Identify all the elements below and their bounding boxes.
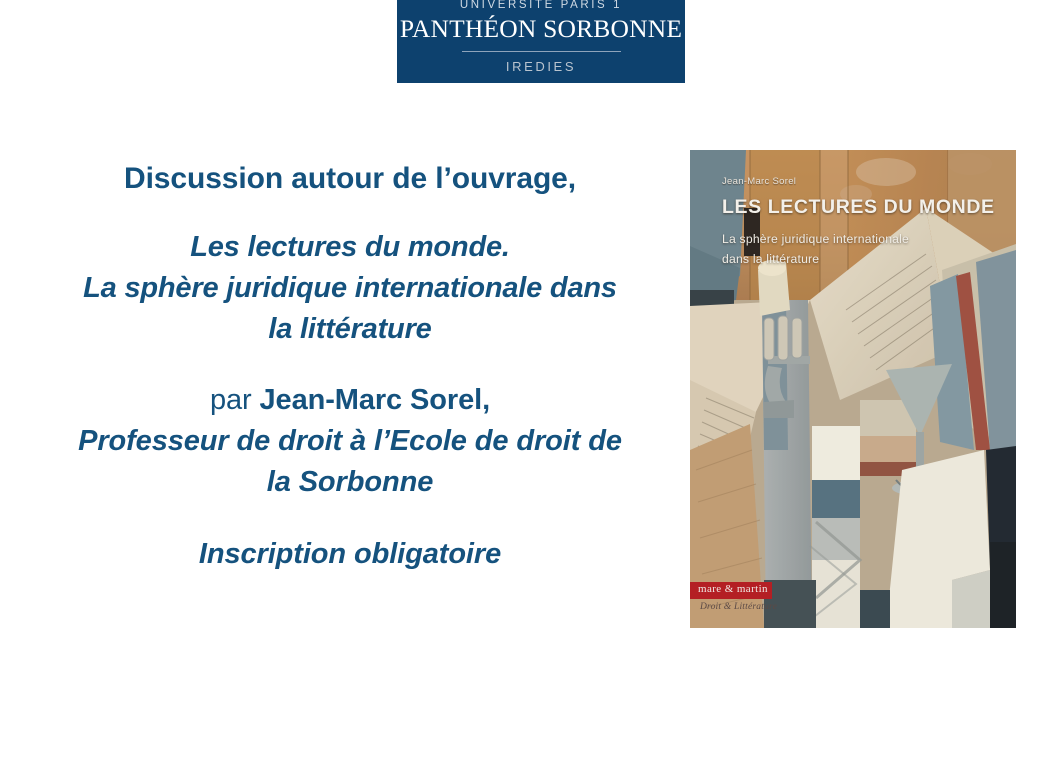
announcement-author: par Jean-Marc Sorel, Professeur de droit… bbox=[20, 380, 680, 504]
author-name: Jean-Marc Sorel, bbox=[260, 384, 491, 416]
announcement-text-block: Discussion autour de l’ouvrage, Les lect… bbox=[20, 158, 680, 575]
book-title-line-1: Les lectures du monde. bbox=[190, 231, 510, 263]
logo-main-line: PANTHÉON SORBONNE bbox=[397, 14, 685, 44]
author-role-line-2: la Sorbonne bbox=[267, 466, 433, 498]
author-role-line-1: Professeur de droit à l’Ecole de droit d… bbox=[78, 425, 622, 457]
university-logo-banner: UNIVERSITÉ PARIS 1 PANTHÉON SORBONNE IRE… bbox=[397, 0, 685, 83]
announcement-heading: Discussion autour de l’ouvrage, bbox=[20, 158, 680, 201]
author-lead-word: par bbox=[210, 384, 260, 416]
book-title-line-3: la littérature bbox=[268, 313, 431, 345]
logo-divider bbox=[462, 51, 621, 52]
logo-institute-label: IREDIES bbox=[397, 58, 685, 76]
announcement-book-title: Les lectures du monde. La sphère juridiq… bbox=[20, 227, 680, 351]
book-title-line-2: La sphère juridique internationale dans bbox=[83, 272, 617, 304]
logo-university-line: UNIVERSITÉ PARIS 1 bbox=[397, 0, 685, 13]
book-cover-artwork bbox=[690, 150, 1016, 628]
registration-notice: Inscription obligatoire bbox=[20, 534, 680, 575]
book-cover-image: Jean-Marc Sorel LES LECTURES DU MONDE La… bbox=[690, 150, 1016, 628]
